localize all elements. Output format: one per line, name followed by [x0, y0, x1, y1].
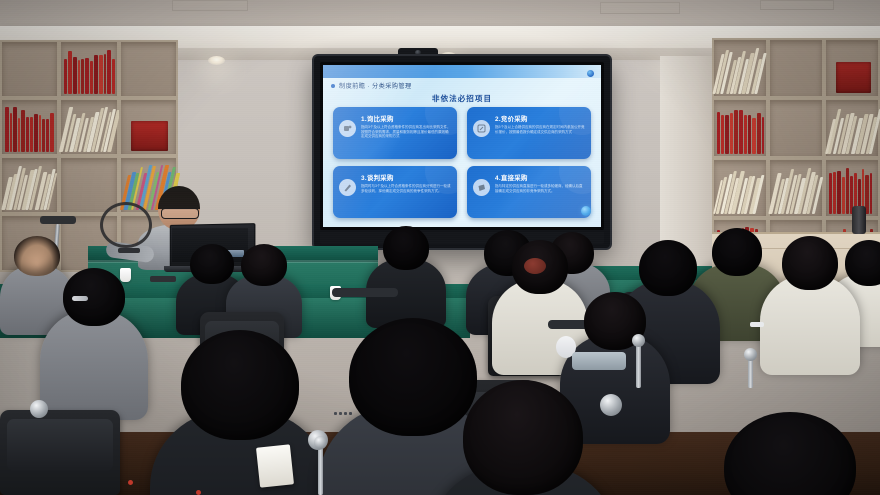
audience-head: [782, 236, 838, 290]
audience-head: [383, 226, 429, 270]
chair-accent-dot: [128, 480, 133, 485]
chair-back-pad: [7, 419, 113, 472]
audience-member: [760, 236, 860, 390]
chair-height-knob: [600, 394, 622, 416]
easel-head: [40, 216, 76, 224]
chair-height-knob: [30, 400, 48, 418]
easel-ring: [100, 202, 152, 248]
audience-member: [150, 330, 330, 495]
open-notebook: [256, 444, 294, 487]
audience-head: [181, 330, 299, 440]
desk-microphone: [150, 276, 176, 282]
desk-microphone: [118, 248, 140, 253]
hair-clip: [72, 296, 88, 301]
chair-armrest: [332, 288, 398, 297]
audience-member: [690, 412, 880, 495]
chair-knob: [744, 348, 757, 361]
hair-scrunchie: [524, 258, 546, 274]
audience-head: [639, 240, 697, 296]
thermos: [852, 206, 866, 234]
audience-head: [463, 380, 583, 495]
audience-torso: [40, 310, 148, 420]
chair-accent-dot: [196, 490, 201, 495]
chair-knob: [632, 334, 645, 347]
audience-member: [430, 380, 616, 495]
audience-chair[interactable]: [0, 410, 120, 495]
audience-head: [241, 244, 287, 286]
audience-head: [724, 412, 856, 495]
chair-knob: [314, 436, 327, 449]
conference-room-photo: 制度前瞻 · 分类采购管理 非依法必招项目 1.询比采购指向3个及以上符合资格条…: [0, 0, 880, 495]
jacket-logo: [750, 322, 764, 327]
shirt-collar: [572, 352, 626, 370]
